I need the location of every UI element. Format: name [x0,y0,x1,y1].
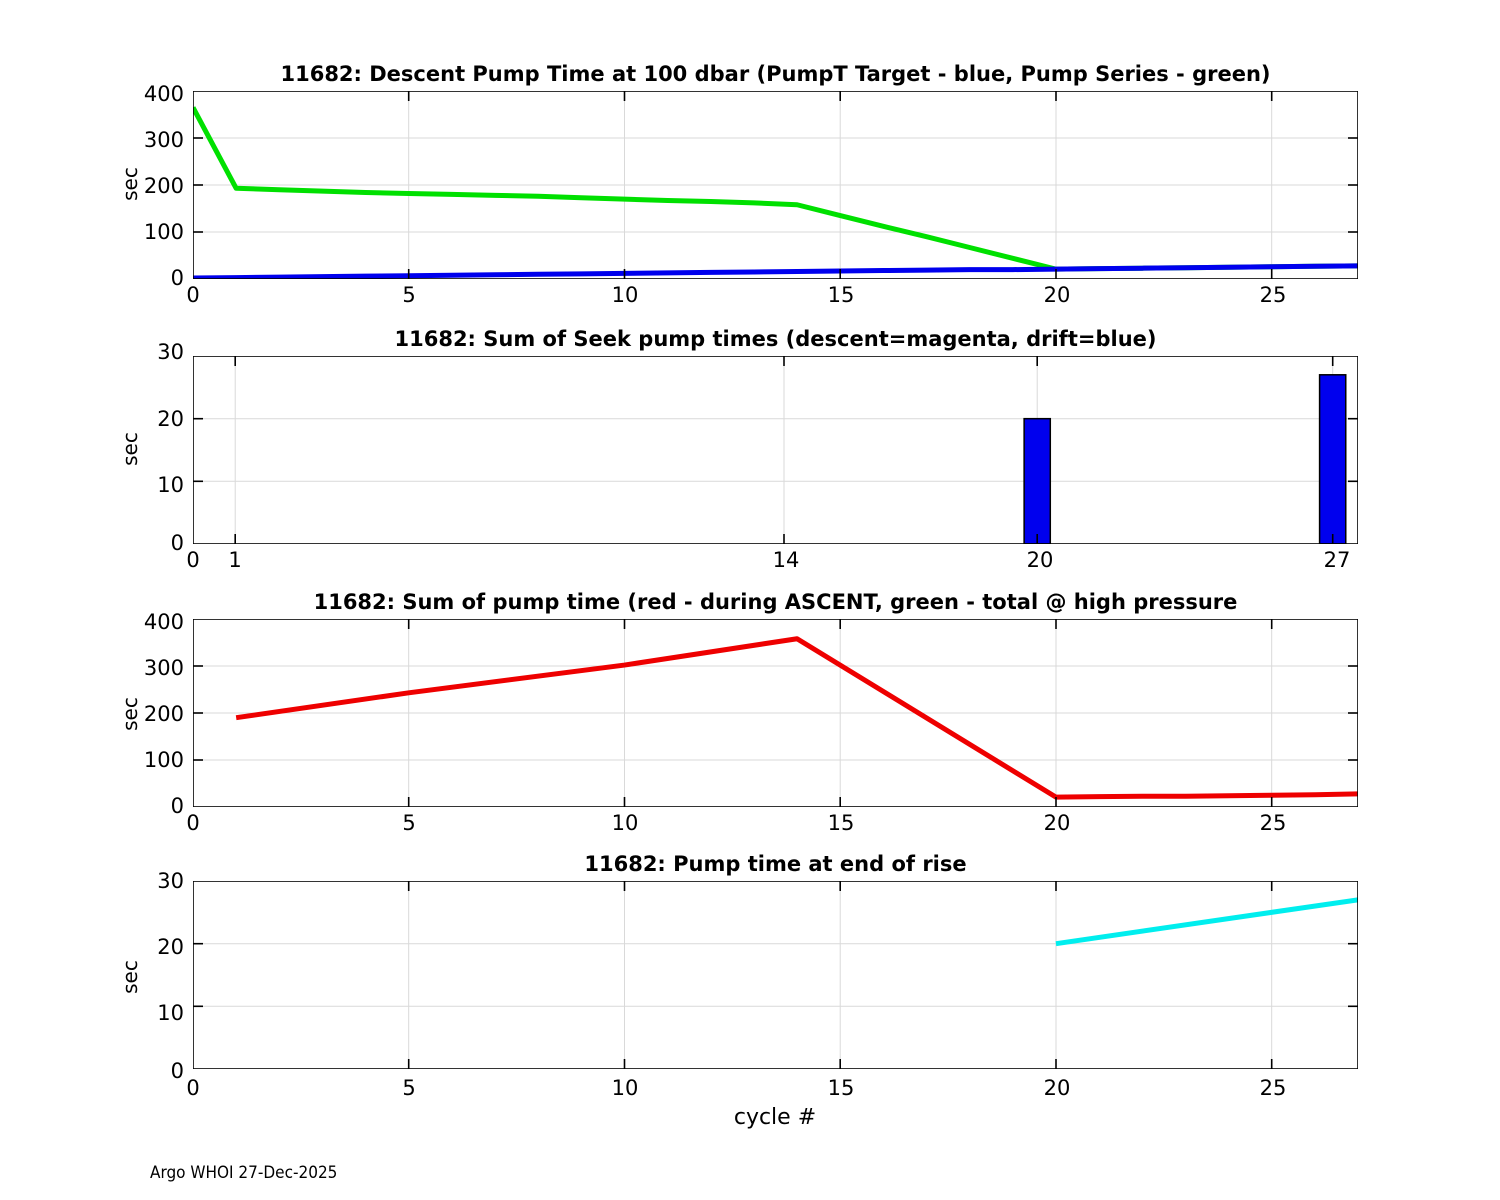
panel-2-xtick-14: 14 [766,548,806,572]
panel-2-bars [1024,375,1346,544]
panel-1-xtick-10: 10 [605,283,645,307]
panel-1-gridlines [193,91,1358,279]
panel-3-gridlines [193,619,1358,807]
panel-3-xtick-0: 0 [173,811,213,835]
panel-1-title: 11682: Descent Pump Time at 100 dbar (Pu… [193,62,1358,86]
panel-4-frame [193,881,1358,1069]
panel-2-title: 11682: Sum of Seek pump times (descent=m… [193,327,1358,351]
panel-4-xtick-0: 0 [173,1076,213,1100]
panel-3-plot-area [193,619,1358,807]
panel-1-series-pumpt-target [193,266,1358,278]
panel-2-svg [193,356,1358,544]
panel-1-xtick-5: 5 [389,283,429,307]
panel-3-xtick-20: 20 [1037,811,1077,835]
panel-4-xtick-25: 25 [1253,1076,1293,1100]
panel-3-title: 11682: Sum of pump time (red - during AS… [193,590,1358,614]
panel-2-ytick-30: 30 [120,340,184,364]
panel-1-xtick-15: 15 [821,283,861,307]
panel-3-ytick-200: 200 [120,702,184,726]
panel-1-ytick-400: 400 [120,82,184,106]
panel-4-gridlines [193,881,1358,1069]
panel-1-plot-area [193,91,1358,279]
panel-2-xtick-1: 1 [215,548,255,572]
panel-4-ytick-30: 30 [120,869,184,893]
panel-4-xtick-15: 15 [821,1076,861,1100]
panel-2-xtick-27: 27 [1317,548,1357,572]
panel-4-svg [193,881,1358,1069]
panel-1-xtick-0: 0 [173,283,213,307]
panel-1-svg [193,91,1358,279]
panel-4-ytick-20: 20 [120,935,184,959]
panel-3-svg [193,619,1358,807]
panel-2-axis-ticks [193,356,1358,544]
panel-3-xtick-15: 15 [821,811,861,835]
panel-4-xtick-5: 5 [389,1076,429,1100]
panel-4-axis-ticks [193,881,1358,1069]
panel-2-xtick-20: 20 [1020,548,1060,572]
panel-1-ytick-200: 200 [120,174,184,198]
panel-1-ytick-300: 300 [120,128,184,152]
panel-1-xtick-25: 25 [1253,283,1293,307]
panel-4-title: 11682: Pump time at end of rise [193,852,1358,876]
panel-4-ytick-10: 10 [120,1001,184,1025]
panel-2-gridlines [193,356,1358,544]
panel-2-ytick-20: 20 [120,407,184,431]
panel-4-xtick-10: 10 [605,1076,645,1100]
figure-canvas: 11682: Descent Pump Time at 100 dbar (Pu… [0,0,1500,1200]
figure-footer: Argo WHOI 27-Dec-2025 [150,1163,337,1183]
panel-2-ytick-10: 10 [120,473,184,497]
bar-cycle-20 [1024,419,1050,544]
panel-3-series-ascent [236,639,1358,797]
figure-xlabel: cycle # [700,1105,850,1130]
panel-4-series-end-of-rise [1056,900,1358,944]
panel-2-frame [193,356,1358,544]
panel-1-xtick-20: 20 [1037,283,1077,307]
panel-3-ytick-100: 100 [120,748,184,772]
panel-3-xtick-25: 25 [1253,811,1293,835]
panel-3-ytick-300: 300 [120,656,184,680]
panel-1-series-pump-series [193,107,1358,269]
panel-2-plot-area [193,356,1358,544]
panel-4-xtick-20: 20 [1037,1076,1077,1100]
panel-1-ytick-100: 100 [120,220,184,244]
panel-3-xtick-5: 5 [389,811,429,835]
panel-4-plot-area [193,881,1358,1069]
panel-3-xtick-10: 10 [605,811,645,835]
panel-2-xtick-0: 0 [173,548,213,572]
panel-3-ytick-400: 400 [120,610,184,634]
bar-cycle-27 [1320,375,1346,544]
